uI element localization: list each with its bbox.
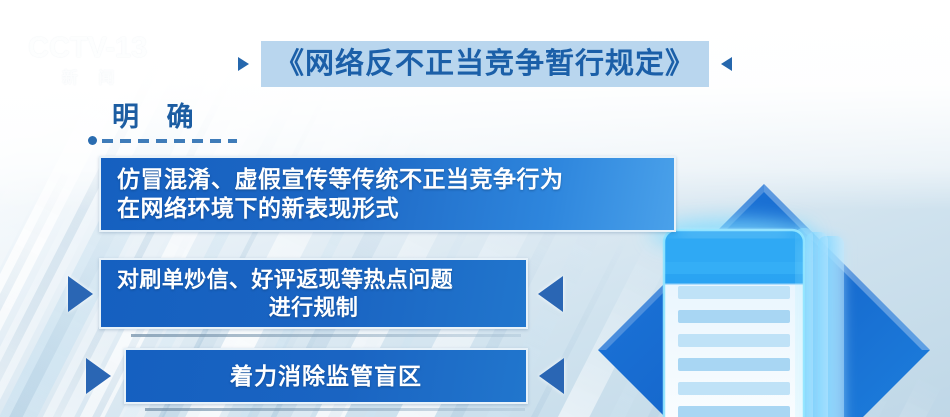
arrow-right-icon xyxy=(86,358,111,394)
point-1-box: 仿冒混淆、虚假宣传等传统不正当竞争行为 在网络环境下的新表现形式 xyxy=(99,156,676,232)
point-3-underline xyxy=(145,408,525,411)
point-2-line-2: 进行规制 xyxy=(117,294,510,322)
arrow-right-icon xyxy=(68,276,93,312)
point-2-line-1: 对刷单炒信、好评返现等热点问题 xyxy=(117,267,453,292)
point-2-text: 对刷单炒信、好评返现等热点问题 进行规制 xyxy=(101,258,526,329)
triangle-right-icon xyxy=(238,57,249,71)
cctv-watermark-sub-text: 新 闻 xyxy=(28,64,156,88)
triangle-left-icon xyxy=(721,57,732,71)
arrow-left-icon xyxy=(539,358,564,394)
point-3-text: 着力消除监管盲区 xyxy=(126,362,526,391)
title-banner: 《网络反不正当竞争暂行规定》 xyxy=(238,41,732,87)
point-3-box: 着力消除监管盲区 xyxy=(124,348,528,404)
point-1-text: 仿冒混淆、虚假宣传等传统不正当竞争行为 在网络环境下的新表现形式 xyxy=(101,165,674,223)
dashed-line-divider xyxy=(102,139,237,143)
title-band: 《网络反不正当竞争暂行规定》 xyxy=(261,41,709,87)
arrow-left-icon xyxy=(538,276,563,312)
point-2-underline xyxy=(131,334,521,337)
cctv-watermark-logo-text: CCTV-13 xyxy=(28,33,156,63)
section-heading: 明 确 xyxy=(112,104,204,131)
cctv-channel-watermark: CCTV-13 新 闻 xyxy=(28,33,156,87)
point-2-box: 对刷单炒信、好评返现等热点问题 进行规制 xyxy=(99,258,528,329)
bullet-dot-icon xyxy=(88,136,97,145)
page-title: 《网络反不正当竞争暂行规定》 xyxy=(275,50,695,79)
broadcast-graphic-stage: CCTV-13 新 闻 《网络反不正当竞争暂行规定》 明 确 仿冒混淆、虚假宣传… xyxy=(0,0,950,417)
